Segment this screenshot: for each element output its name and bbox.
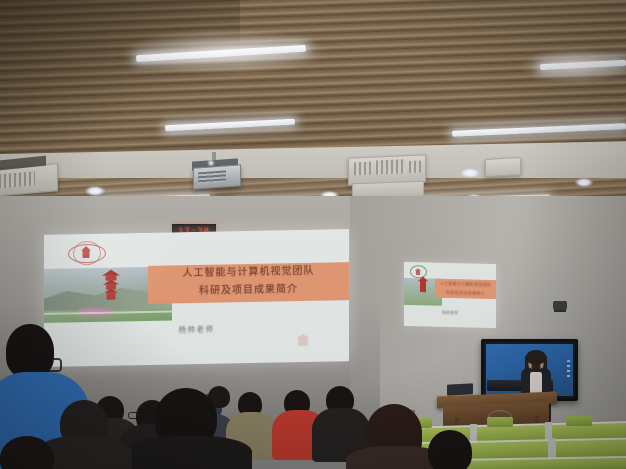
light-glow xyxy=(520,48,626,84)
lecture-hall-photo: 17:38 xyxy=(0,0,626,469)
university-emblem-icon xyxy=(68,240,104,265)
secondary-projection-screen: 人工智能与计算机视觉团队 科研及项目成果简介 杨帅老师 xyxy=(404,262,496,328)
smartboard-toolbar[interactable] xyxy=(567,360,570,378)
slide-presenter-name: 杨帅老师 xyxy=(404,309,496,317)
slide-watermark-icon xyxy=(296,334,310,346)
main-projection-screen: 人工智能与计算机视觉团队 科研及项目成果简介 杨帅老师 xyxy=(44,229,349,367)
ceiling-vent xyxy=(485,157,521,177)
slide-title-line-2: 科研及项目成果简介 xyxy=(148,280,349,302)
recessed-downlight xyxy=(460,168,480,178)
projector-lens-glow xyxy=(206,160,216,166)
recessed-downlight xyxy=(575,178,593,187)
light-glow xyxy=(120,28,330,76)
university-emblem-icon xyxy=(410,265,427,278)
presenter-hair-top xyxy=(526,350,546,364)
slide-title-band: 人工智能与计算机视觉团队 科研及项目成果简介 xyxy=(148,262,349,304)
chair-back xyxy=(487,417,513,427)
audience-head xyxy=(428,430,472,469)
presentation-slide: 人工智能与计算机视觉团队 科研及项目成果简介 杨帅老师 xyxy=(44,229,349,367)
lectern-laptop xyxy=(447,383,473,395)
ceiling-projector xyxy=(193,164,241,189)
eyeglasses-icon xyxy=(36,358,62,372)
pagoda-tower xyxy=(102,269,120,303)
wall-mounted-camera-icon xyxy=(553,301,567,310)
recessed-downlight xyxy=(85,186,105,196)
chair-back xyxy=(566,416,592,426)
audience-shoulders xyxy=(126,436,252,469)
eyeglasses-icon xyxy=(128,412,148,419)
slide-title-band: 人工智能与计算机视觉团队 科研及项目成果简介 xyxy=(435,279,496,299)
slide-title-line-2: 科研及项目成果简介 xyxy=(435,288,496,298)
